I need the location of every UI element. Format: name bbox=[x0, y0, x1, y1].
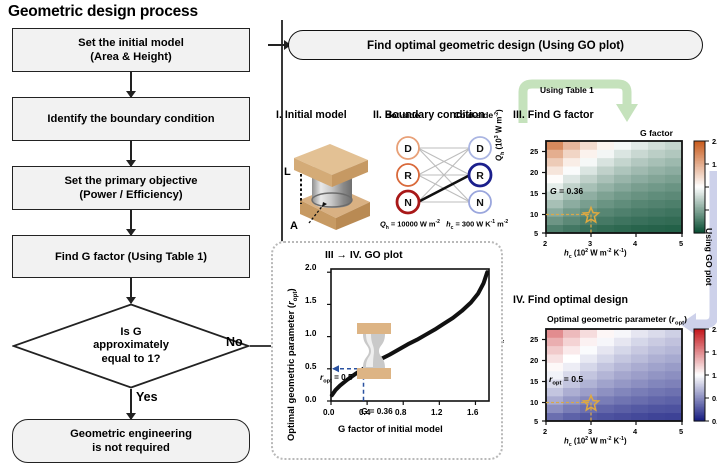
flow-connector-yes bbox=[130, 389, 132, 419]
flow-label-no: No bbox=[226, 335, 243, 349]
g-colorbar-tick-0: 2.0 bbox=[712, 137, 717, 146]
ropt-colorbar-tick-2: 1.0 bbox=[712, 371, 717, 380]
section-heading-find-optimal-design: IV. Find optimal design bbox=[513, 294, 628, 306]
cold-side-header: Cold-side bbox=[454, 110, 493, 120]
go-plot-xtick-3: 1.2 bbox=[431, 408, 442, 417]
using-table-label: Using Table 1 bbox=[540, 85, 594, 95]
flow-connector-4 bbox=[130, 278, 132, 303]
flow-step-line2: (Power / Efficiency) bbox=[64, 188, 197, 202]
right-panel: Find optimal geometric design (Using GO … bbox=[268, 0, 717, 464]
flow-step-line1: Identify the boundary condition bbox=[47, 112, 214, 126]
svg-text:D: D bbox=[404, 143, 412, 155]
svg-text:R: R bbox=[404, 170, 412, 182]
g-heatmap-xtick-1: 3 bbox=[588, 239, 592, 248]
decision-line1: Is G bbox=[120, 326, 141, 340]
flow-decision-is-g-approx-1[interactable]: Is G approximately equal to 1? bbox=[12, 303, 250, 389]
ropt-annotation: ropt = 0.5 bbox=[549, 374, 583, 387]
g-factor-annotation: G = 0.36 bbox=[550, 186, 583, 196]
go-plot-panel: III → IV. GO plot ropt = 0.5 G = 0.36 0.… bbox=[271, 241, 503, 460]
svg-text:R: R bbox=[476, 170, 484, 182]
g-heatmap-ylabel: Qh (103 W m-2) bbox=[494, 109, 506, 161]
ropt-heatmap-xtick-2: 4 bbox=[633, 427, 637, 436]
g-factor-colorbar-title: G factor bbox=[640, 128, 673, 138]
using-go-plot-label: Using GO plot bbox=[704, 228, 714, 286]
flow-step-set-objective[interactable]: Set the primary objective (Power / Effic… bbox=[12, 166, 250, 210]
flow-step-identify-boundary[interactable]: Identify the boundary condition bbox=[12, 97, 250, 141]
flowchart: Set the initial model (Area & Height) Id… bbox=[0, 28, 268, 464]
flow-step-line1: Find G factor (Using Table 1) bbox=[55, 250, 207, 264]
g-heatmap-ytick-0: 5 bbox=[534, 229, 538, 238]
go-plot-ylabel: Optimal geometric parameter (ropt) bbox=[285, 288, 299, 441]
ropt-heatmap-ytick-1: 10 bbox=[530, 398, 538, 407]
svg-text:D: D bbox=[476, 143, 484, 155]
flow-terminal-no-engineering[interactable]: Geometric engineering is not required bbox=[12, 419, 250, 463]
terminal-line1: Geometric engineering bbox=[70, 427, 192, 441]
ropt-heatmap-ytick-3: 20 bbox=[530, 356, 538, 365]
go-plot-ytick-1: 0.5 bbox=[305, 362, 316, 371]
section-heading-find-g-factor: III. Find G factor bbox=[513, 109, 594, 121]
initial-model-illustration bbox=[282, 134, 374, 234]
ropt-heatmap-ytick-0: 5 bbox=[534, 417, 538, 426]
go-plot-xlabel: G factor of initial model bbox=[338, 423, 443, 434]
ropt-colorbar-tick-1: 1.5 bbox=[712, 348, 717, 357]
terminal-line2: is not required bbox=[70, 441, 192, 455]
section-heading-initial-model: I. Initial model bbox=[276, 109, 347, 121]
boundary-condition-network: D R N D R N bbox=[378, 122, 508, 222]
svg-text:N: N bbox=[404, 197, 412, 209]
go-plot-ytick-3: 1.5 bbox=[305, 296, 316, 305]
go-plot-ytick-2: 1.0 bbox=[305, 329, 316, 338]
svg-text:N: N bbox=[476, 197, 484, 209]
g-heatmap-ytick-2: 15 bbox=[530, 189, 538, 198]
flow-step-line2: (Area & Height) bbox=[78, 50, 184, 64]
ropt-heatmap-title: Optimal geometric parameter (ropt) bbox=[547, 314, 687, 327]
go-plot-xtick-2: 0.8 bbox=[395, 408, 406, 417]
top-bar-find-optimal-design[interactable]: Find optimal geometric design (Using GO … bbox=[288, 30, 703, 60]
g-heatmap-ytick-3: 20 bbox=[530, 168, 538, 177]
flow-connector-1 bbox=[130, 72, 132, 97]
ropt-colorbar-tick-4: 0.0 bbox=[712, 417, 717, 426]
ropt-heatmap bbox=[508, 327, 717, 442]
go-plot-ytick-0: 0.0 bbox=[305, 395, 316, 404]
g-heatmap-ytick-4: 25 bbox=[530, 147, 538, 156]
go-plot-ytick-4: 2.0 bbox=[305, 263, 316, 272]
flow-step-find-g-factor[interactable]: Find G factor (Using Table 1) bbox=[12, 235, 250, 278]
flow-connector-2 bbox=[130, 141, 132, 166]
flow-connector-3 bbox=[130, 210, 132, 235]
g-heatmap-ytick-1: 10 bbox=[530, 210, 538, 219]
ropt-colorbar-tick-3: 0.50 bbox=[712, 394, 717, 403]
flow-step-line1: Set the initial model bbox=[78, 36, 184, 50]
entry-arrow bbox=[268, 44, 290, 46]
ropt-heatmap-xtick-3: 5 bbox=[679, 427, 683, 436]
go-plot-annotation-ropt: ropt = 0.5 bbox=[320, 373, 353, 385]
go-plot-title: III → IV. GO plot bbox=[325, 250, 403, 261]
initial-model-area-label: A bbox=[290, 220, 298, 232]
top-bar-label: Find optimal geometric design (Using GO … bbox=[367, 39, 624, 52]
go-plot-xtick-4: 1.6 bbox=[467, 408, 478, 417]
decision-line3: equal to 1? bbox=[101, 353, 160, 367]
boundary-condition-caption: Qh = 10000 W m-2 hc = 300 W K-1 m-2 bbox=[380, 219, 508, 231]
hot-side-header: Hot-side bbox=[385, 110, 419, 120]
flow-label-yes: Yes bbox=[136, 390, 158, 404]
g-heatmap-xlabel: hc (102 W m-2 K-1) bbox=[564, 248, 627, 260]
ropt-heatmap-xtick-1: 3 bbox=[588, 427, 592, 436]
ropt-heatmap-ytick-4: 25 bbox=[530, 335, 538, 344]
flow-step-set-initial-model[interactable]: Set the initial model (Area & Height) bbox=[12, 28, 250, 72]
decision-line2: approximately bbox=[93, 339, 169, 353]
flow-step-line1: Set the primary objective bbox=[64, 174, 197, 188]
initial-model-height-label: L bbox=[284, 166, 291, 178]
g-heatmap-xtick-2: 4 bbox=[633, 239, 637, 248]
ropt-heatmap-xtick-0: 2 bbox=[543, 427, 547, 436]
go-plot-xtick-1: 0.4 bbox=[359, 408, 370, 417]
ropt-heatmap-ytick-2: 15 bbox=[530, 377, 538, 386]
ropt-colorbar-tick-0: 2.0 bbox=[712, 325, 717, 334]
g-heatmap-xtick-0: 2 bbox=[543, 239, 547, 248]
page-title: Geometric design process bbox=[8, 3, 198, 21]
ropt-heatmap-xlabel: hc (102 W m-2 K-1) bbox=[564, 436, 627, 448]
go-plot-xtick-0: 0.0 bbox=[323, 408, 334, 417]
